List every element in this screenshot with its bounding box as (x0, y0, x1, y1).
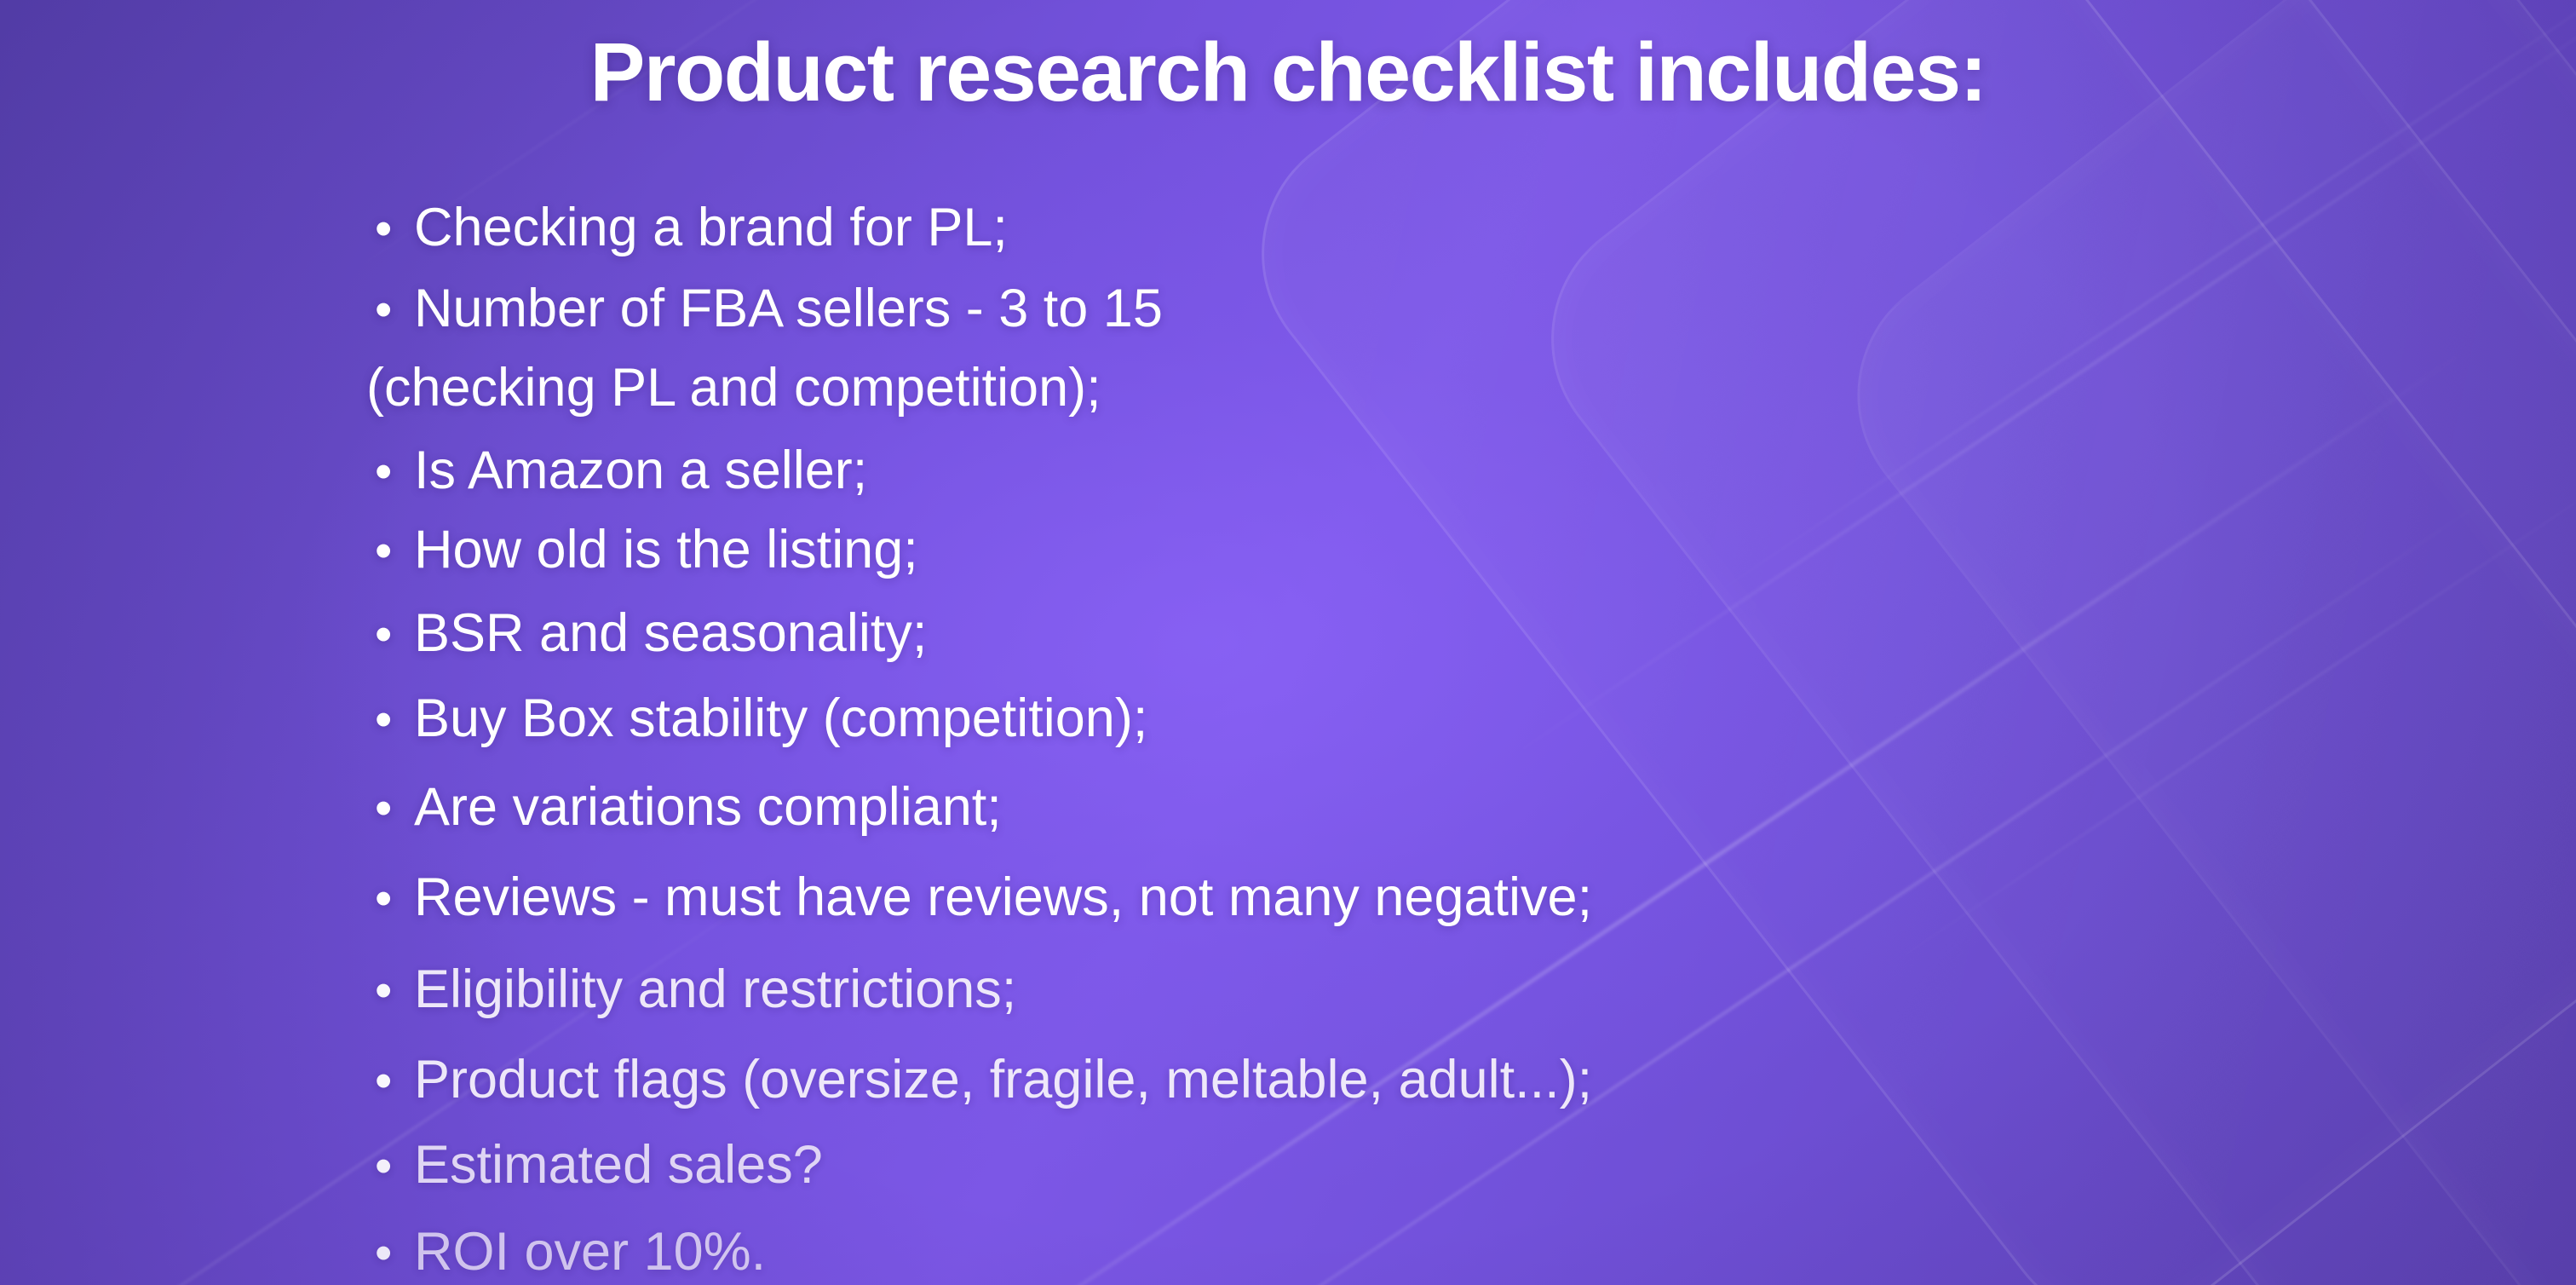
slide-content: Product research checklist includes: • C… (0, 0, 2576, 1285)
list-item-label: Buy Box stability (competition); (414, 692, 1147, 746)
bullet-icon: • (375, 1142, 414, 1191)
bullet-icon: • (375, 447, 414, 497)
bullet-icon: • (375, 874, 414, 924)
list-item: • Buy Box stability (competition); (375, 692, 1147, 746)
presentation-slide: Product research checklist includes: • C… (0, 0, 2576, 1285)
list-item-continuation: (checking PL and competition); (366, 361, 1101, 415)
list-item-label: Are variations compliant; (414, 781, 1002, 834)
list-item: • ROI over 10%. (375, 1225, 766, 1279)
list-item-label: Checking a brand for PL; (414, 201, 1008, 255)
list-item: • How old is the listing; (375, 523, 918, 577)
list-item: • Eligibility and restrictions; (375, 963, 1016, 1017)
list-item: • Reviews - must have reviews, not many … (375, 871, 1592, 925)
bullet-icon: • (375, 1057, 414, 1106)
bullet-icon: • (375, 527, 414, 576)
bullet-icon: • (375, 610, 414, 660)
list-item-label: Reviews - must have reviews, not many ne… (414, 871, 1592, 925)
bullet-icon: • (375, 205, 414, 254)
list-item-label: Eligibility and restrictions; (414, 963, 1016, 1017)
list-item-label: How old is the listing; (414, 523, 918, 577)
bullet-icon: • (375, 1229, 414, 1278)
list-item-label: BSR and seasonality; (414, 607, 927, 660)
list-item-label: Estimated sales? (414, 1138, 823, 1192)
list-item-label: Is Amazon a seller; (414, 444, 867, 498)
list-item: • Is Amazon a seller; (375, 444, 867, 498)
list-item: • Number of FBA sellers - 3 to 15 (375, 282, 1163, 336)
list-item: • BSR and seasonality; (375, 607, 927, 660)
list-item-label: Product flags (oversize, fragile, meltab… (414, 1053, 1592, 1107)
list-item-label: Number of FBA sellers - 3 to 15 (414, 282, 1163, 336)
list-item: • Estimated sales? (375, 1138, 823, 1192)
bullet-icon: • (375, 695, 414, 745)
bullet-icon: • (375, 966, 414, 1016)
list-item-label: (checking PL and competition); (366, 361, 1101, 415)
list-item-label: ROI over 10%. (414, 1225, 766, 1279)
list-item: • Checking a brand for PL; (375, 201, 1008, 255)
bullet-icon: • (375, 285, 414, 335)
slide-title: Product research checklist includes: (0, 29, 2576, 117)
list-item: • Are variations compliant; (375, 781, 1002, 834)
list-item: • Product flags (oversize, fragile, melt… (375, 1053, 1592, 1107)
bullet-icon: • (375, 784, 414, 833)
